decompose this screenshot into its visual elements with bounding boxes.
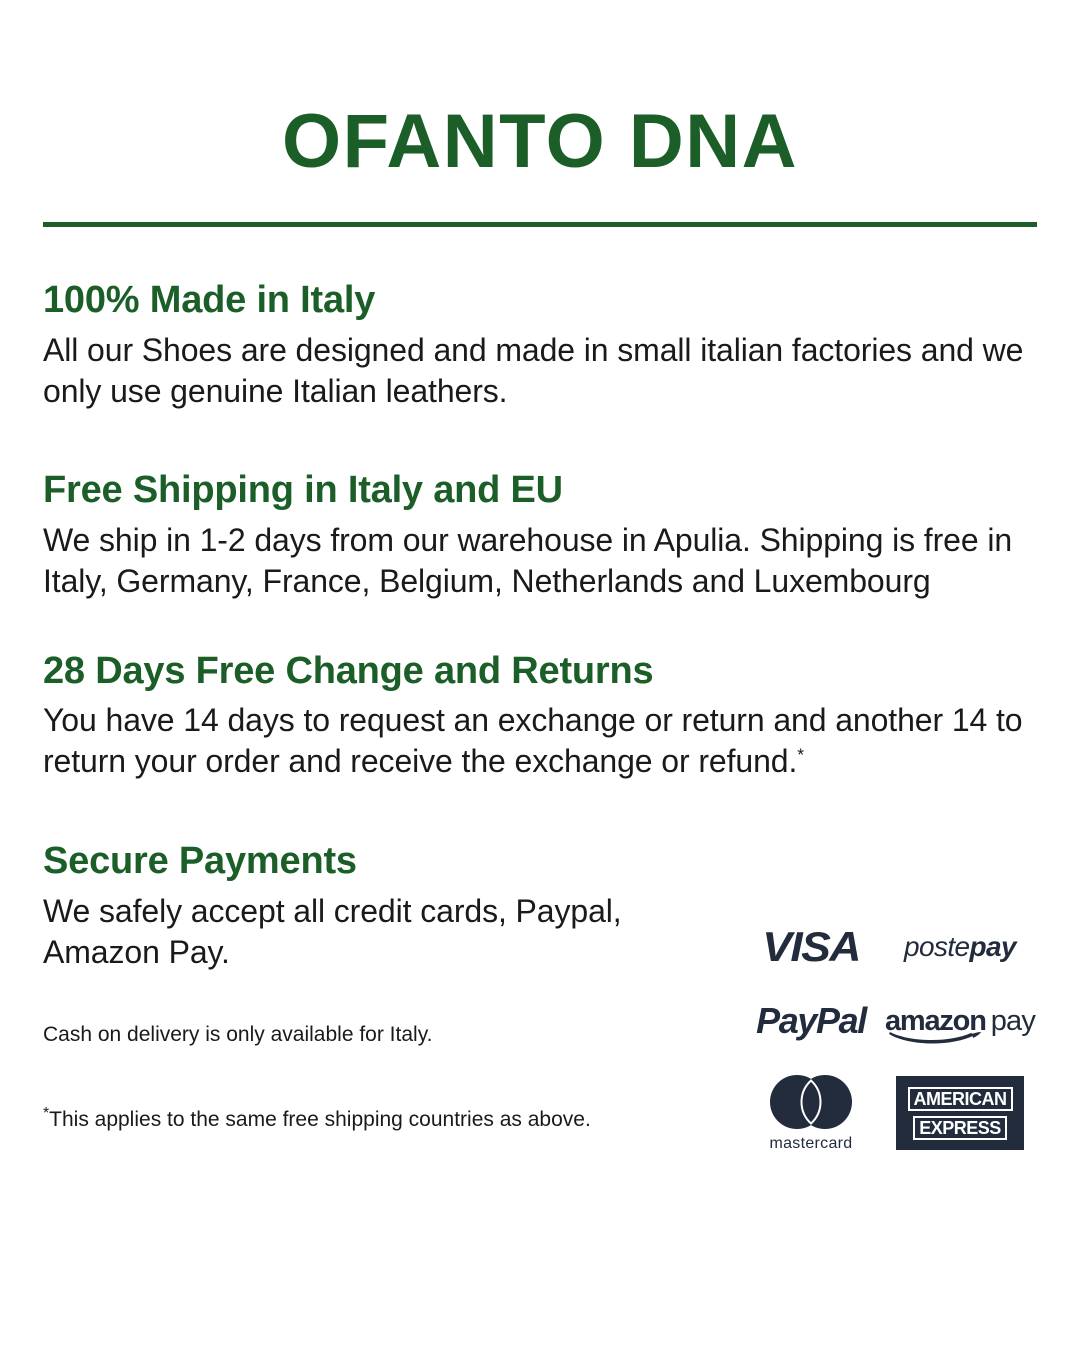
payment-row-3: mastercard AMERICAN EXPRESS: [737, 1070, 1037, 1156]
section-heading-free-change-and-returns: 28 Days Free Change and Returns: [43, 650, 1037, 693]
footnote-text: This applies to the same free shipping c…: [49, 1108, 591, 1131]
section-body-free-change-and-returns: You have 14 days to request an exchange …: [43, 700, 1033, 782]
postepay-wordmark: postepay: [904, 931, 1016, 963]
payment-methods: VISA postepay PayPal amazonpay: [737, 912, 1037, 1156]
amex-line-1-box: AMERICAN: [908, 1087, 1013, 1111]
postepay-pay: pay: [970, 931, 1016, 962]
mastercard-wordmark: mastercard: [769, 1135, 852, 1153]
mastercard-mark-group: mastercard: [768, 1074, 854, 1153]
section-free-shipping: Free Shipping in Italy and EU We ship in…: [43, 469, 1037, 601]
postepay-poste: poste: [904, 931, 970, 962]
section-body-text: You have 14 days to request an exchange …: [43, 702, 1023, 779]
amex-line-american: AMERICAN: [914, 1090, 1007, 1108]
postepay-logo: postepay: [885, 931, 1035, 963]
section-body-made-in-italy: All our Shoes are designed and made in s…: [43, 330, 1033, 412]
returns-footnote-marker: *: [797, 745, 804, 765]
amex-line-2-box: EXPRESS: [913, 1116, 1007, 1140]
amex-card-box: AMERICAN EXPRESS: [896, 1076, 1024, 1150]
visa-logo: VISA: [737, 923, 885, 971]
paypal-logo: PayPal: [737, 1000, 885, 1042]
section-heading-secure-payments: Secure Payments: [43, 840, 1037, 883]
header: OFANTO DNA: [0, 0, 1080, 180]
page-title: OFANTO DNA: [0, 104, 1080, 180]
section-body-free-shipping: We ship in 1-2 days from our warehouse i…: [43, 520, 1033, 602]
section-free-change-and-returns: 28 Days Free Change and Returns You have…: [43, 650, 1037, 782]
mastercard-logo: mastercard: [737, 1074, 885, 1153]
section-heading-free-shipping: Free Shipping in Italy and EU: [43, 469, 1037, 512]
paypal-wordmark: PayPal: [756, 1000, 866, 1042]
amex-line-express: EXPRESS: [919, 1119, 1001, 1137]
visa-wordmark: VISA: [762, 923, 860, 971]
section-heading-made-in-italy: 100% Made in Italy: [43, 279, 1037, 322]
amazon-pay-logo: amazonpay: [885, 1007, 1035, 1036]
amazon-smile-arrow-icon: [887, 1031, 983, 1047]
payment-row-1: VISA postepay: [737, 912, 1037, 982]
title-divider: [43, 222, 1037, 227]
payment-row-2: PayPal amazonpay: [737, 988, 1037, 1054]
section-body-secure-payments: We safely accept all credit cards, Paypa…: [43, 891, 683, 973]
section-made-in-italy: 100% Made in Italy All our Shoes are des…: [43, 279, 1037, 411]
amazon-pay-pay: pay: [991, 1005, 1035, 1037]
ofanto-dna-info-card: OFANTO DNA 100% Made in Italy All our Sh…: [0, 0, 1080, 1350]
american-express-logo: AMERICAN EXPRESS: [885, 1076, 1035, 1150]
amazon-pay-wordmark: amazonpay: [885, 1007, 1035, 1036]
mastercard-circles-icon: [768, 1074, 854, 1130]
